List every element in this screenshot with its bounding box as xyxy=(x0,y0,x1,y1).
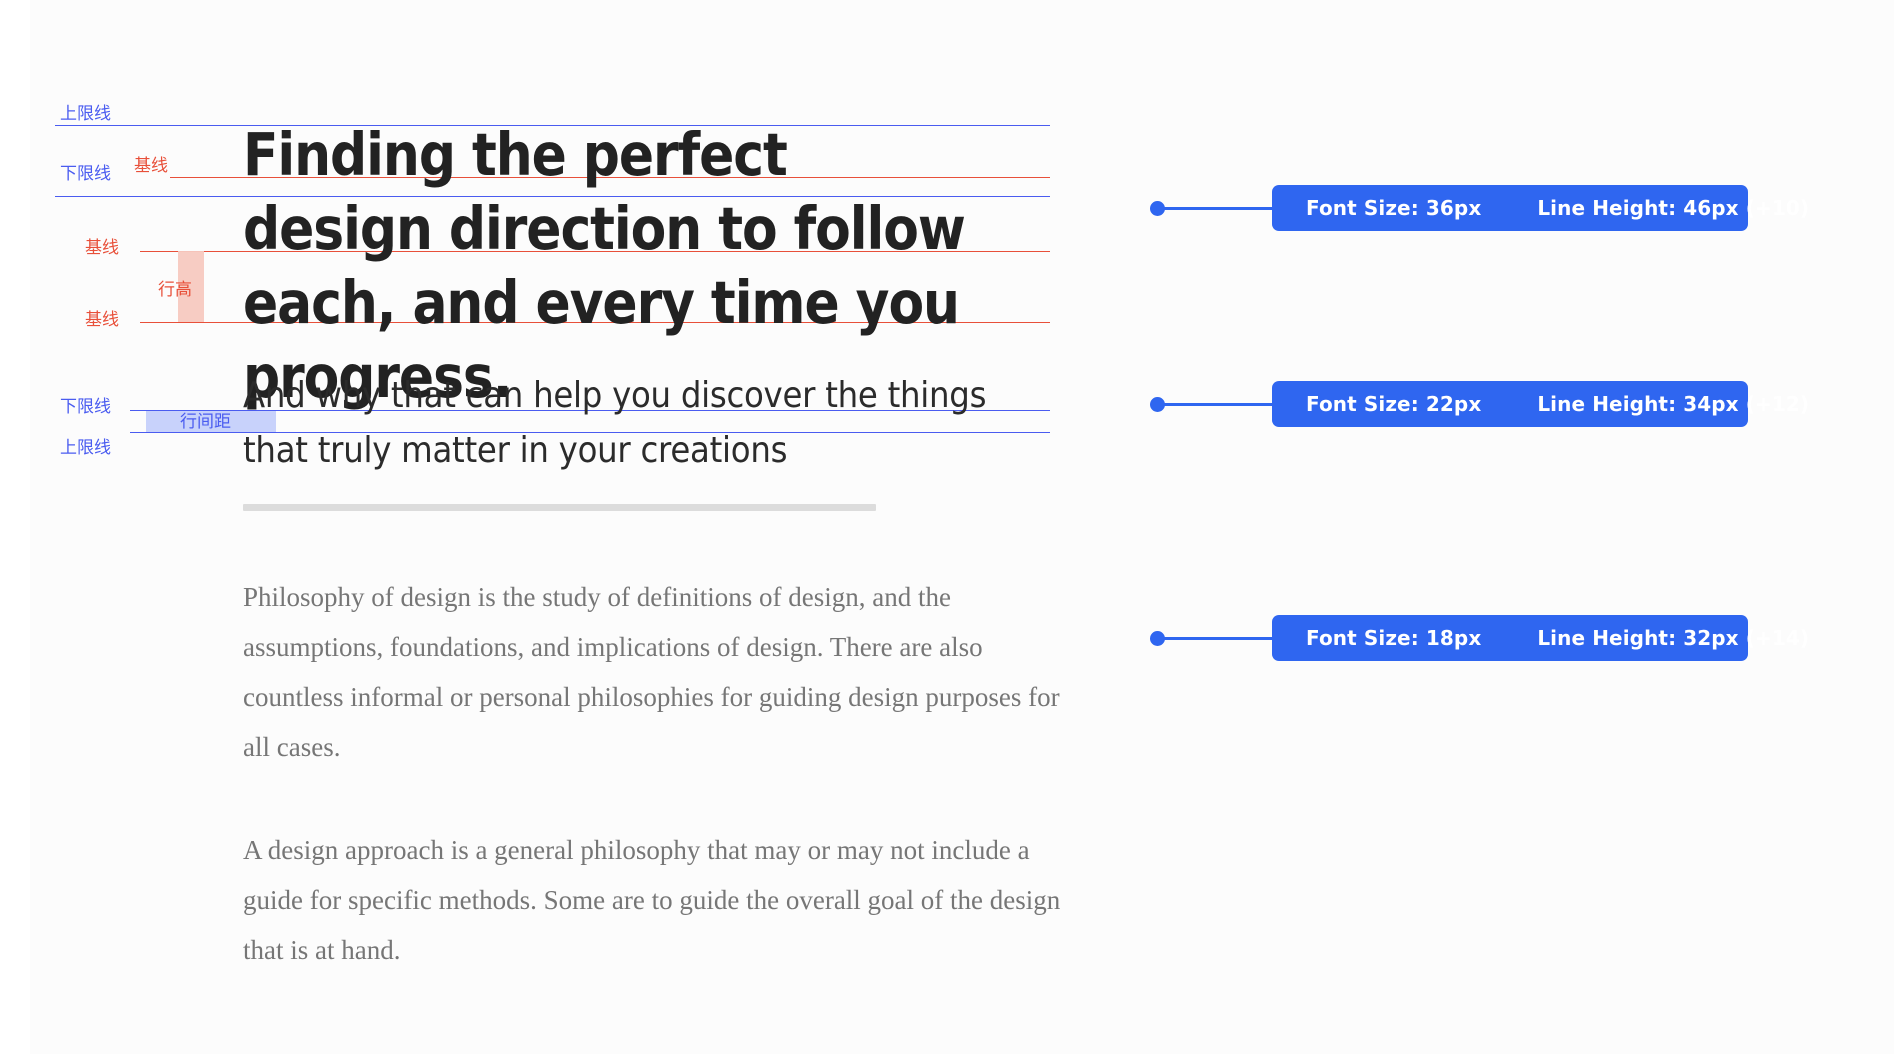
artboard: 上限线 基线 下限线 基线 基线 行高 下限线 行间距 上限线 Finding … xyxy=(30,0,1894,1054)
callout-font-size-label: Font Size: 18px xyxy=(1306,628,1481,648)
line-spacing-band-label: 行间距 xyxy=(180,414,231,431)
callout-leader-line xyxy=(1163,403,1275,406)
screenshot-root: 上限线 基线 下限线 基线 基线 行高 下限线 行间距 上限线 Finding … xyxy=(0,0,1894,1054)
callout-font-size-label: Font Size: 22px xyxy=(1306,394,1481,414)
subhead-upper-limit-label: 上限线 xyxy=(60,440,111,457)
callout-line-height-label: Line Height: 32px (+14) xyxy=(1537,628,1809,648)
callout-leader-line xyxy=(1163,207,1275,210)
callout-leader-line xyxy=(1163,637,1275,640)
callout-font-size-label: Font Size: 36px xyxy=(1306,198,1481,218)
headline-lower-limit-label: 下限线 xyxy=(60,166,111,183)
subhead-specimen: And why that can help you discover the t… xyxy=(243,368,1017,478)
callout-chip[interactable]: Font Size: 36px Line Height: 46px (+10) xyxy=(1272,185,1748,231)
body-paragraph-1: Philosophy of design is the study of def… xyxy=(243,572,1073,772)
callout-chip[interactable]: Font Size: 18px Line Height: 32px (+14) xyxy=(1272,615,1748,661)
headline-baseline-label-3: 基线 xyxy=(85,312,119,329)
headline-baseline-label-2: 基线 xyxy=(85,240,119,257)
headline-baseline-label-1: 基线 xyxy=(134,158,168,175)
line-height-band-label: 行高 xyxy=(158,282,192,299)
body-paragraph-2: A design approach is a general philosoph… xyxy=(243,825,1073,975)
callout-chip[interactable]: Font Size: 22px Line Height: 34px (+12) xyxy=(1272,381,1748,427)
section-divider xyxy=(243,504,876,511)
callout-line-height-label: Line Height: 34px (+12) xyxy=(1537,394,1809,414)
callout-line-height-label: Line Height: 46px (+10) xyxy=(1537,198,1809,218)
headline-upper-limit-label: 上限线 xyxy=(60,106,111,123)
subhead-lower-limit-label: 下限线 xyxy=(60,399,111,416)
